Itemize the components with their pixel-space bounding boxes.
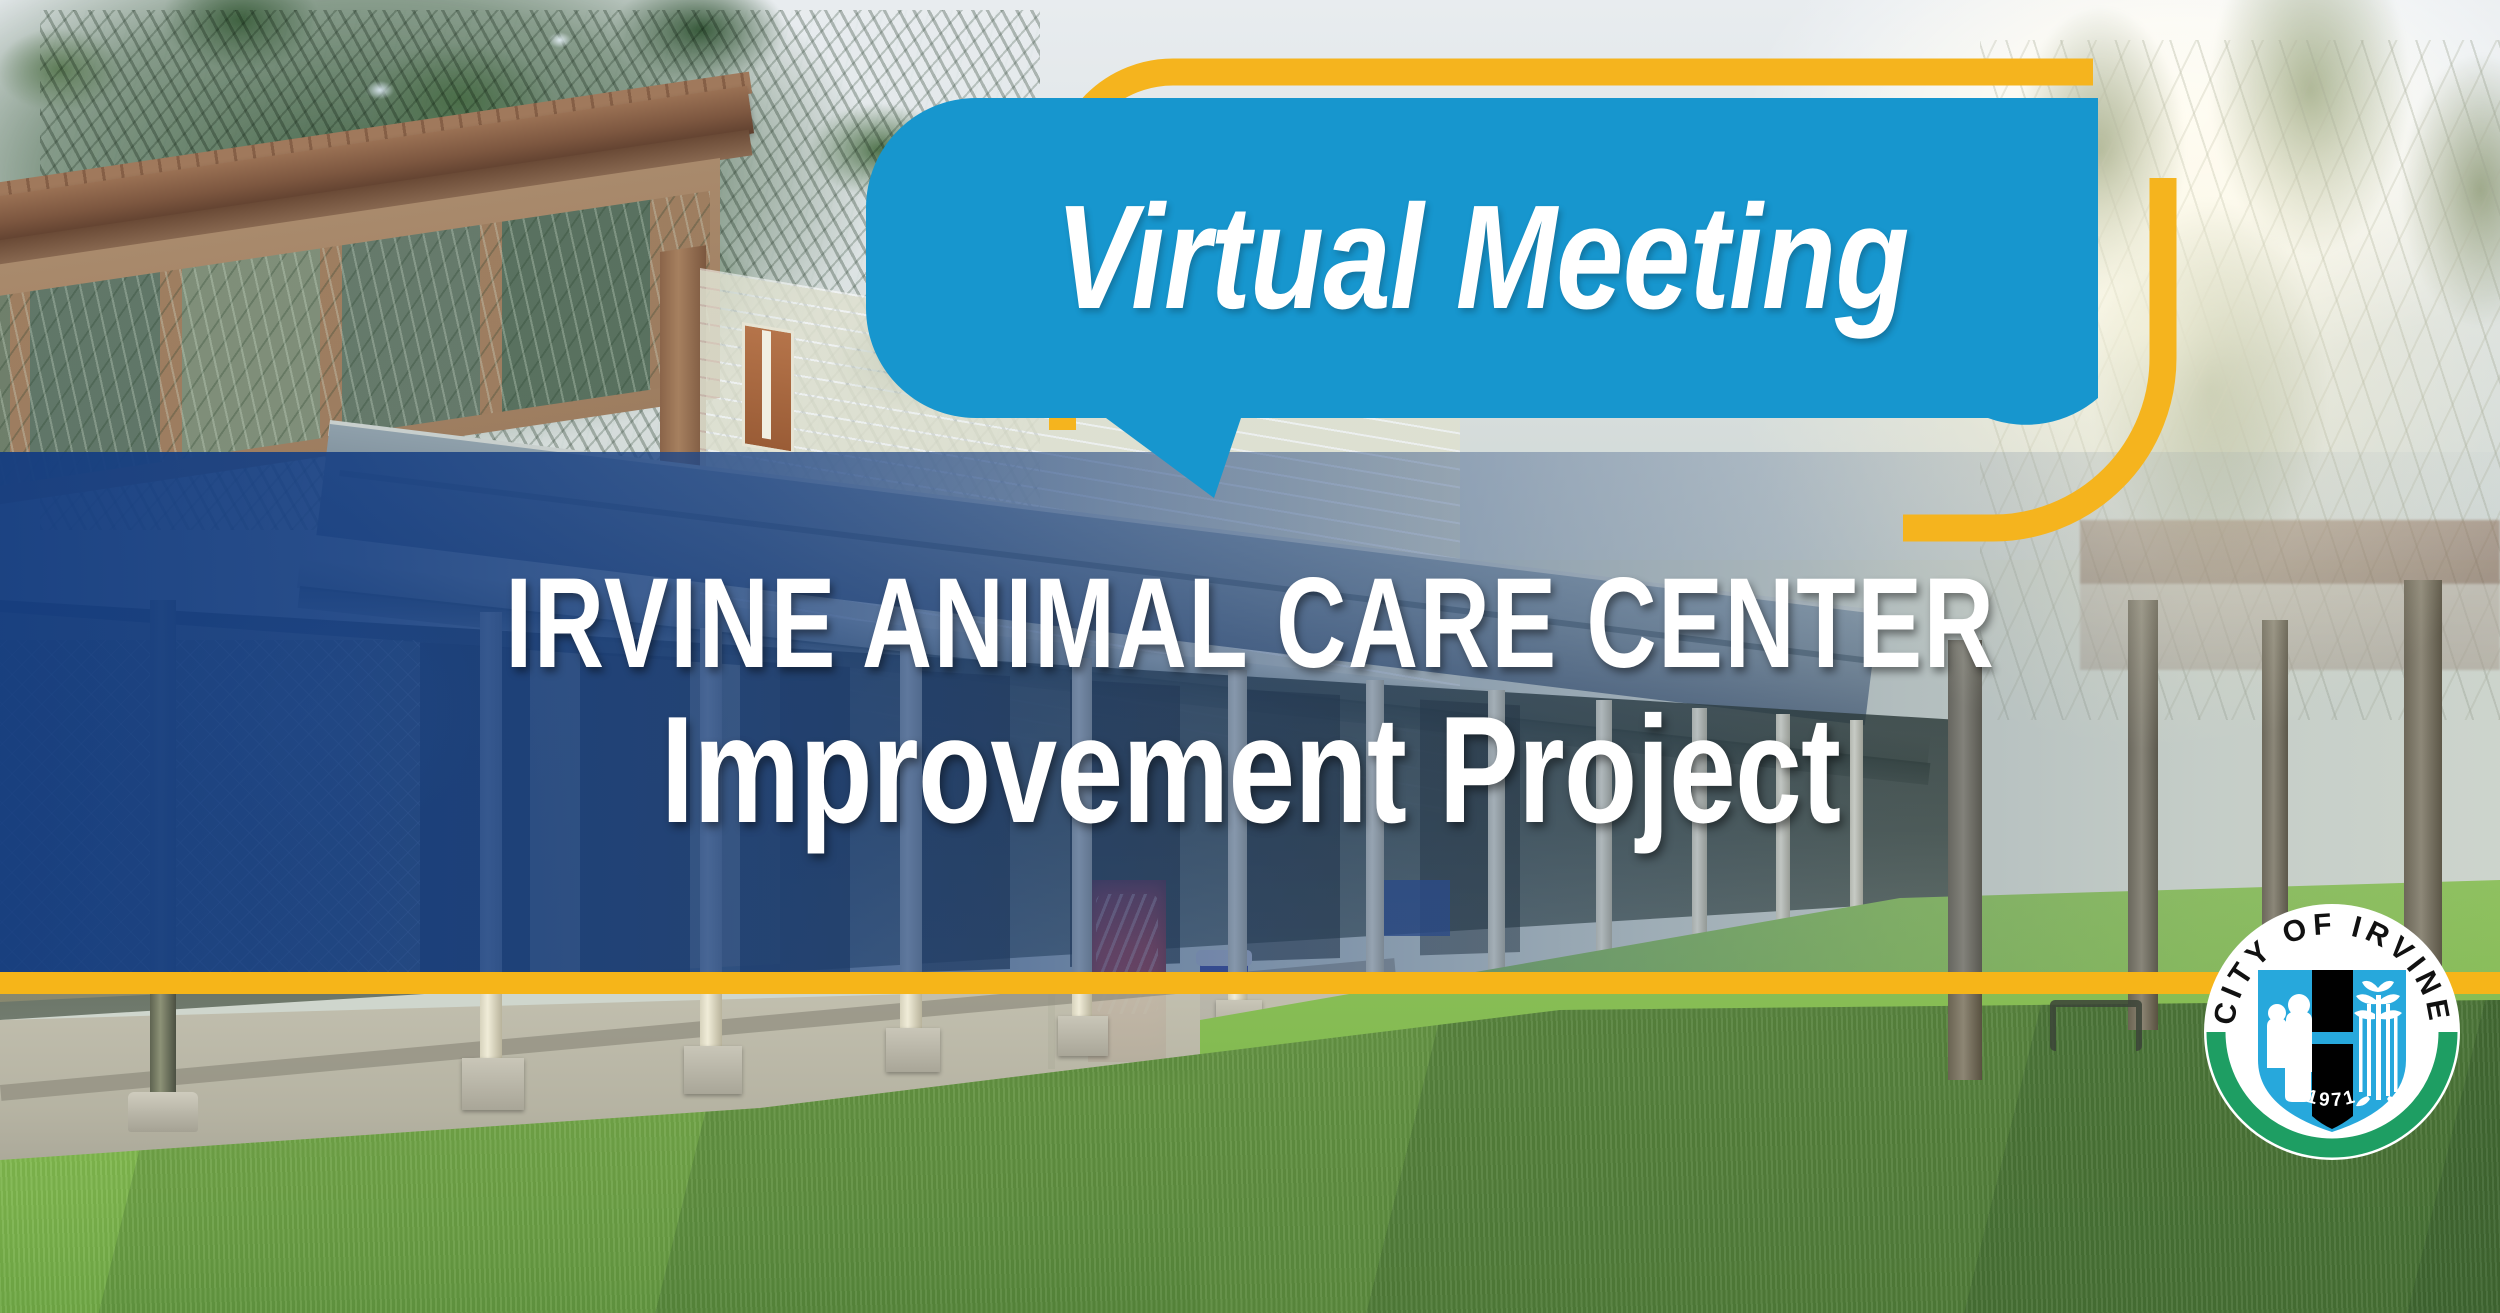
light-pole-base xyxy=(128,1092,198,1132)
post-footing xyxy=(684,1046,742,1094)
post-footing xyxy=(462,1058,524,1110)
city-of-irvine-logo: CITY OF IRVINE xyxy=(2200,900,2464,1164)
post-footing xyxy=(1058,1016,1108,1056)
gold-divider-bar xyxy=(0,972,2500,994)
shield-bar-lower xyxy=(2312,1044,2353,1129)
virtual-meeting-banner: Virtual Meeting IRVINE ANIMAL CARE CENTE… xyxy=(0,0,2500,1313)
shield-bar-upper xyxy=(2312,970,2353,1032)
headline-line-2: Improvement Project xyxy=(660,694,1839,846)
tree-emblem xyxy=(2354,981,2402,1106)
post-footing xyxy=(886,1028,940,1072)
badge-label: Virtual Meeting xyxy=(977,98,1987,418)
park-bench xyxy=(2050,1000,2142,1051)
headline-line-1: IRVINE ANIMAL CARE CENTER xyxy=(505,560,1995,688)
headline-block: IRVINE ANIMAL CARE CENTER Improvement Pr… xyxy=(0,560,2500,846)
